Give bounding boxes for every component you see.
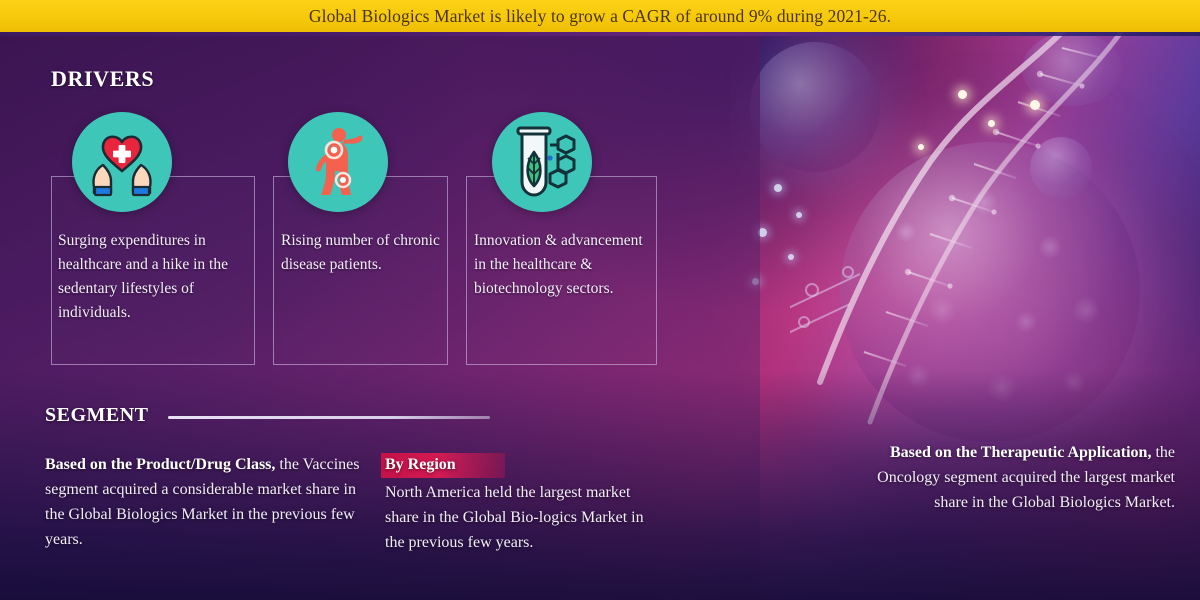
segment-title-rule (168, 416, 490, 419)
spark-particle (774, 184, 782, 192)
glow-particle (988, 120, 995, 127)
infographic-canvas: Global Biologics Market is likely to gro… (0, 0, 1200, 600)
segment-item-label: Based on the Therapeutic Application, (890, 444, 1152, 461)
spark-particle (788, 254, 794, 260)
segment-item-therapeutic-application: Based on the Therapeutic Application, th… (855, 440, 1175, 515)
glow-particle (958, 90, 967, 99)
driver-description: Surging expenditures in healthcare and a… (58, 229, 254, 325)
header-title: Global Biologics Market is likely to gro… (309, 6, 891, 27)
segment-section-title: SEGMENT (45, 404, 149, 427)
spark-particle (796, 212, 802, 218)
segment-item-label: By Region (385, 456, 456, 473)
test-tube-leaf-molecule-icon (492, 112, 592, 212)
driver-description: Rising number of chronic disease patient… (281, 229, 449, 277)
body-pain-points-icon (288, 112, 388, 212)
segment-item-label-wrap: By Region (385, 452, 456, 477)
header-banner: Global Biologics Market is likely to gro… (0, 0, 1200, 32)
hands-holding-heart-icon (72, 112, 172, 212)
segment-item-by-region: By Region North America held the largest… (385, 452, 655, 555)
driver-description: Innovation & advancement in the healthca… (474, 229, 658, 301)
segment-item-product-drug-class: Based on the Product/Drug Class, the Vac… (45, 452, 365, 552)
glow-particle (918, 144, 924, 150)
segment-item-body: North America held the largest market sh… (385, 480, 655, 555)
drivers-section-title: DRIVERS (51, 66, 154, 92)
segment-item-label: Based on the Product/Drug Class, (45, 456, 275, 473)
header-underline (0, 32, 1200, 36)
glow-particle (1030, 100, 1040, 110)
